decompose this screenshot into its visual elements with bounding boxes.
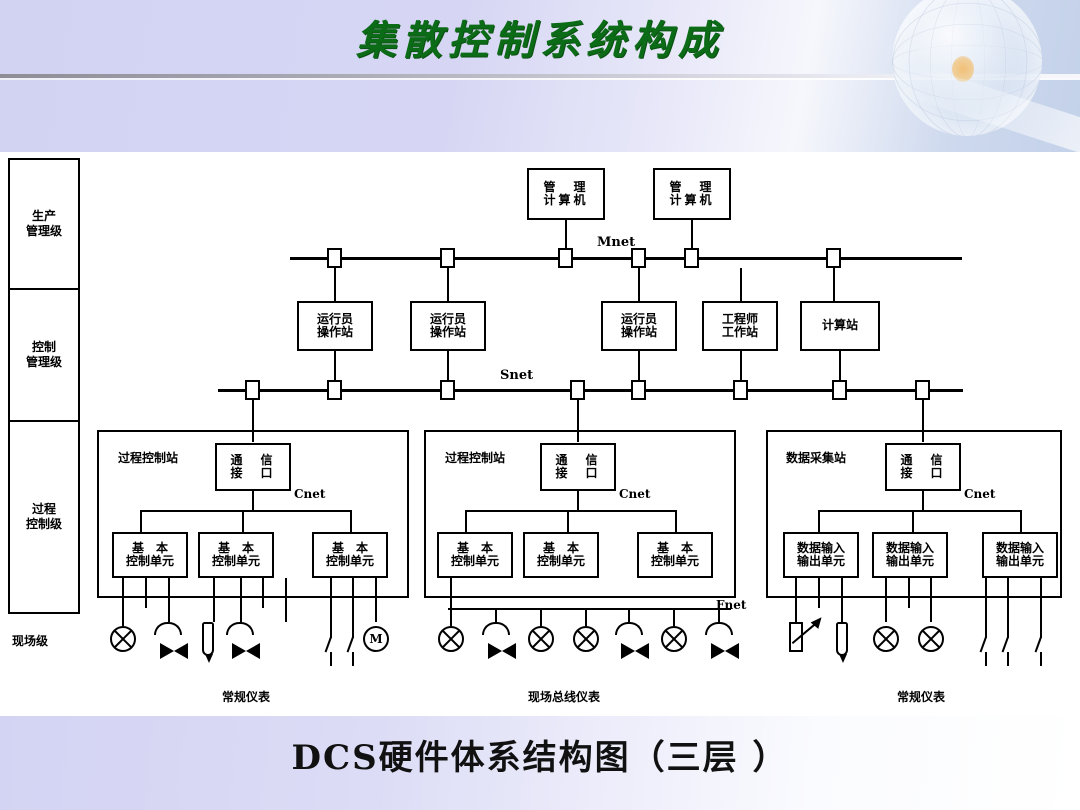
- sidebar-item-field-level: 现场级: [12, 632, 48, 649]
- station-1-cnet-drop-3: [350, 510, 352, 532]
- field-wire-r7: [985, 578, 987, 622]
- station-3-data-io-unit-2[interactable]: 数据输入 输出单元: [872, 532, 948, 578]
- mnet-node-5[interactable]: [684, 248, 699, 268]
- station-2-basic-control-unit-3[interactable]: 基 本 控制单元: [637, 532, 713, 578]
- page-title: 集散控制系统构成: [0, 8, 1080, 66]
- field-wire-m4: [585, 608, 587, 626]
- field-wire-l10: [375, 578, 377, 622]
- station-2-basic-control-unit-2[interactable]: 基 本 控制单元: [523, 532, 599, 578]
- motor-icon-l1: M: [363, 626, 389, 652]
- field-wire-r3: [841, 578, 843, 622]
- transmitter-icon-m1: [438, 626, 464, 652]
- field-wire-m3: [540, 608, 542, 626]
- field-wire-m6: [673, 608, 675, 626]
- transmitter-icon-r2: [918, 626, 944, 652]
- field-wire-m5: [628, 608, 630, 622]
- mnet-node-1[interactable]: [327, 248, 342, 268]
- field-wire-r9: [1040, 578, 1042, 622]
- diagram-caption: DCS硬件体系结构图（三层 ）: [0, 730, 1080, 779]
- snet-node-3[interactable]: [440, 380, 455, 400]
- snet-node-7[interactable]: [832, 380, 847, 400]
- field-caption-2: 现场总线仪表: [528, 688, 600, 705]
- mnet-node-3[interactable]: [558, 248, 573, 268]
- field-wire-m7: [718, 608, 720, 622]
- field-wire-l5: [240, 578, 242, 626]
- probe-sensor-icon-l1: [202, 622, 214, 656]
- station-3-cnet-drop-3: [1020, 510, 1022, 532]
- station-3-cnet-label: Cnet: [964, 487, 995, 501]
- fnet-bus: [448, 608, 731, 610]
- field-wire-l8: [330, 578, 332, 626]
- process-control-station-2-title: 过程控制站: [445, 449, 505, 466]
- snet-node-5[interactable]: [631, 380, 646, 400]
- link-mnet-to-operator-2: [447, 268, 449, 301]
- break-lines-icon-r3: [1036, 622, 1046, 666]
- field-caption-3: 常规仪表: [897, 688, 945, 705]
- control-valve-icon-l1: [160, 643, 188, 659]
- engineer-workstation[interactable]: 工程师 工作站: [702, 301, 778, 351]
- compute-station[interactable]: 计算站: [800, 301, 880, 351]
- control-valve-icon-m1: [488, 643, 516, 659]
- management-computer-2[interactable]: 管 理 计算机: [653, 168, 731, 220]
- field-wire-l1: [122, 578, 124, 626]
- mnet-node-2[interactable]: [440, 248, 455, 268]
- slide: 集散控制系统构成 DCS硬件体系结构图（三层 ） 生产 管理级 控制 管理级 过…: [0, 0, 1080, 810]
- field-wire-r6: [930, 578, 932, 622]
- station-1-basic-control-unit-3[interactable]: 基 本 控制单元: [312, 532, 388, 578]
- management-computer-1[interactable]: 管 理 计算机: [527, 168, 605, 220]
- control-valve-icon-m2: [621, 643, 649, 659]
- station-1-cnet-drop-1: [140, 510, 142, 532]
- station-3-data-io-unit-3[interactable]: 数据输入 输出单元: [982, 532, 1058, 578]
- station-2-comm-interface[interactable]: 通 信 接 口: [540, 443, 616, 491]
- snet-node-6[interactable]: [733, 380, 748, 400]
- field-wire-l6: [262, 578, 264, 608]
- field-wire-l7: [285, 578, 287, 622]
- station-3-interface-drop: [922, 491, 924, 511]
- station-3-cnet-bus: [818, 510, 1022, 512]
- field-wire-m2: [495, 608, 497, 622]
- transmitter-icon-m2: [528, 626, 554, 652]
- data-acquisition-station-title: 数据采集站: [786, 449, 846, 466]
- snet-node-8[interactable]: [915, 380, 930, 400]
- station-1-cnet-drop-2: [242, 510, 244, 532]
- station-1-basic-control-unit-1[interactable]: 基 本 控制单元: [112, 532, 188, 578]
- fnet-label: Fnet: [716, 598, 746, 612]
- field-wire-l2: [145, 578, 147, 608]
- mnet-bus: [290, 257, 962, 260]
- station-1-cnet-label: Cnet: [294, 487, 325, 501]
- control-valve-icon-l2: [232, 643, 260, 659]
- link-mnet-to-operator-3: [638, 268, 640, 301]
- station-1-comm-interface[interactable]: 通 信 接 口: [215, 443, 291, 491]
- break-lines-icon-l2: [348, 622, 358, 666]
- station-2-interface-drop: [577, 491, 579, 511]
- station-1-interface-drop: [252, 491, 254, 511]
- station-2-basic-control-unit-1[interactable]: 基 本 控制单元: [437, 532, 513, 578]
- probe-sensor-icon-r1: [836, 622, 848, 656]
- process-control-station-1-title: 过程控制站: [118, 449, 178, 466]
- link-mnet-to-engineer: [740, 268, 742, 301]
- field-wire-r5: [908, 578, 910, 608]
- sidebar-item-process-control: 过程 控制级: [10, 422, 78, 612]
- transmitter-icon-r1: [873, 626, 899, 652]
- mnet-node-6[interactable]: [826, 248, 841, 268]
- link-mnet-to-operator-1: [334, 268, 336, 301]
- field-wire-l4: [213, 578, 215, 622]
- variable-resistor-arrow-icon-r1: [793, 616, 823, 646]
- operator-station-2[interactable]: 运行员 操作站: [410, 301, 486, 351]
- field-wire-r8: [1007, 578, 1009, 622]
- snet-node-2[interactable]: [327, 380, 342, 400]
- field-wire-r2: [818, 578, 820, 608]
- station-3-data-io-unit-1[interactable]: 数据输入 输出单元: [783, 532, 859, 578]
- field-wire-r4: [885, 578, 887, 622]
- station-1-cnet-bus: [140, 510, 352, 512]
- station-2-cnet-drop-2: [567, 510, 569, 532]
- mnet-node-4[interactable]: [631, 248, 646, 268]
- sidebar-item-production-management: 生产 管理级: [10, 160, 78, 288]
- station-3-comm-interface[interactable]: 通 信 接 口: [885, 443, 961, 491]
- operator-station-1[interactable]: 运行员 操作站: [297, 301, 373, 351]
- station-1-basic-control-unit-2[interactable]: 基 本 控制单元: [198, 532, 274, 578]
- snet-node-1[interactable]: [245, 380, 260, 400]
- station-3-cnet-drop-1: [818, 510, 820, 532]
- station-2-cnet-bus: [465, 510, 677, 512]
- operator-station-3[interactable]: 运行员 操作站: [601, 301, 677, 351]
- station-2-cnet-drop-3: [675, 510, 677, 532]
- field-caption-1: 常规仪表: [222, 688, 270, 705]
- link-mnet-to-compute-station: [833, 268, 835, 301]
- field-wire-l3: [168, 578, 170, 622]
- transmitter-icon-m3: [573, 626, 599, 652]
- station-2-cnet-drop-1: [465, 510, 467, 532]
- mnet-label: Mnet: [597, 235, 635, 250]
- sidebar-item-control-management: 控制 管理级: [10, 290, 78, 420]
- break-lines-icon-r1: [981, 622, 991, 666]
- control-valve-icon-m3: [711, 643, 739, 659]
- field-wire-l9: [352, 578, 354, 626]
- transmitter-icon-m4: [661, 626, 687, 652]
- break-lines-icon-l1: [326, 622, 336, 666]
- snet-node-4[interactable]: [570, 380, 585, 400]
- station-3-cnet-drop-2: [912, 510, 914, 532]
- station-2-cnet-label: Cnet: [619, 487, 650, 501]
- break-lines-icon-r2: [1003, 622, 1013, 666]
- field-wire-m1: [450, 608, 452, 626]
- snet-label: Snet: [500, 368, 533, 383]
- transmitter-icon-l1: [110, 626, 136, 652]
- field-wire-m-trunk-drop: [450, 578, 452, 610]
